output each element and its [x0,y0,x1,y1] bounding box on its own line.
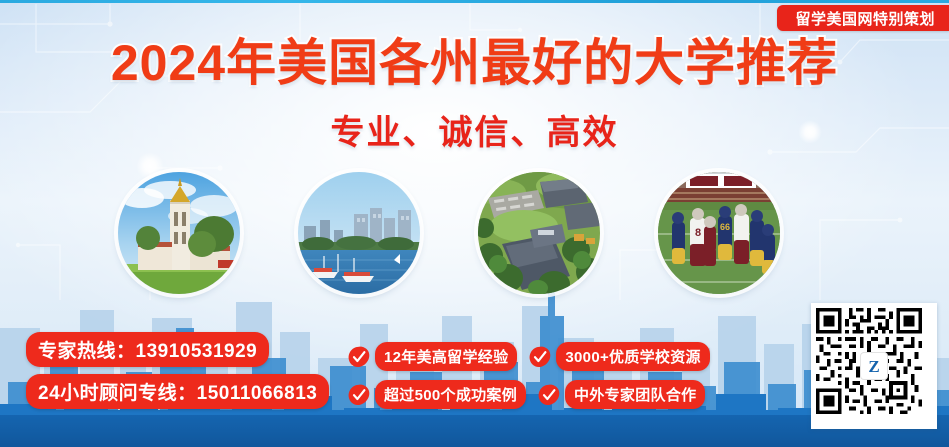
feature-item: 超过500个成功案例 [348,380,526,409]
promo-banner: 留学美国网特别策划 2024年美国各州最好的大学推荐 专业、诚信、高效 [0,0,949,447]
feature-item: 12年美高留学经验 [348,342,517,371]
feature-label: 3000+优质学校资源 [556,342,709,371]
consultant-line-label: 24小时顾问专线：15011066813 [26,374,329,409]
feature-row: 12年美高留学经验 3000+优质学校资源 [348,342,748,371]
title-area: 2024年美国各州最好的大学推荐 [0,38,949,88]
contact-block: 专家热线：13910531929 24小时顾问专线：15011066813 [26,332,329,409]
qr-center-logo: Z [861,353,887,379]
special-feature-ribbon: 留学美国网特别策划 [777,5,949,31]
check-icon [538,384,560,406]
photo-river-sailboats-skyline [298,172,420,294]
feature-item: 中外专家团队合作 [538,380,705,409]
check-icon [529,346,551,368]
qr-logo-letter: Z [868,358,879,375]
photo-campus-bell-tower [118,172,240,294]
feature-item: 3000+优质学校资源 [529,342,709,371]
ribbon-label: 留学美国网特别策划 [795,8,935,29]
feature-label: 中外专家团队合作 [565,380,705,409]
svg-text:66: 66 [720,222,730,232]
photo-aerial-campus-view [478,172,600,294]
contact-row: 24小时顾问专线：15011066813 [26,374,329,409]
feature-row: 超过500个成功案例 中外专家团队合作 [348,380,748,409]
feature-label: 超过500个成功案例 [375,380,526,409]
photo-football-game: 8 66 [658,172,780,294]
top-accent-rule [0,0,949,3]
feature-label: 12年美高留学经验 [375,342,517,371]
qr-code[interactable]: Z [811,303,937,429]
check-icon [348,384,370,406]
hotline-label: 专家热线：13910531929 [26,332,269,367]
contact-row: 专家热线：13910531929 [26,332,329,367]
photo-strip: 8 66 [0,172,949,308]
bottom-color-strip [0,415,949,447]
check-icon [348,346,370,368]
page-title: 2024年美国各州最好的大学推荐 [111,38,838,88]
page-subtitle: 专业、诚信、高效 [331,116,619,150]
feature-list: 12年美高留学经验 3000+优质学校资源 超过500个成功案例 中外专家 [348,342,748,409]
subtitle-area: 专业、诚信、高效 [0,116,949,150]
svg-text:8: 8 [695,227,701,239]
